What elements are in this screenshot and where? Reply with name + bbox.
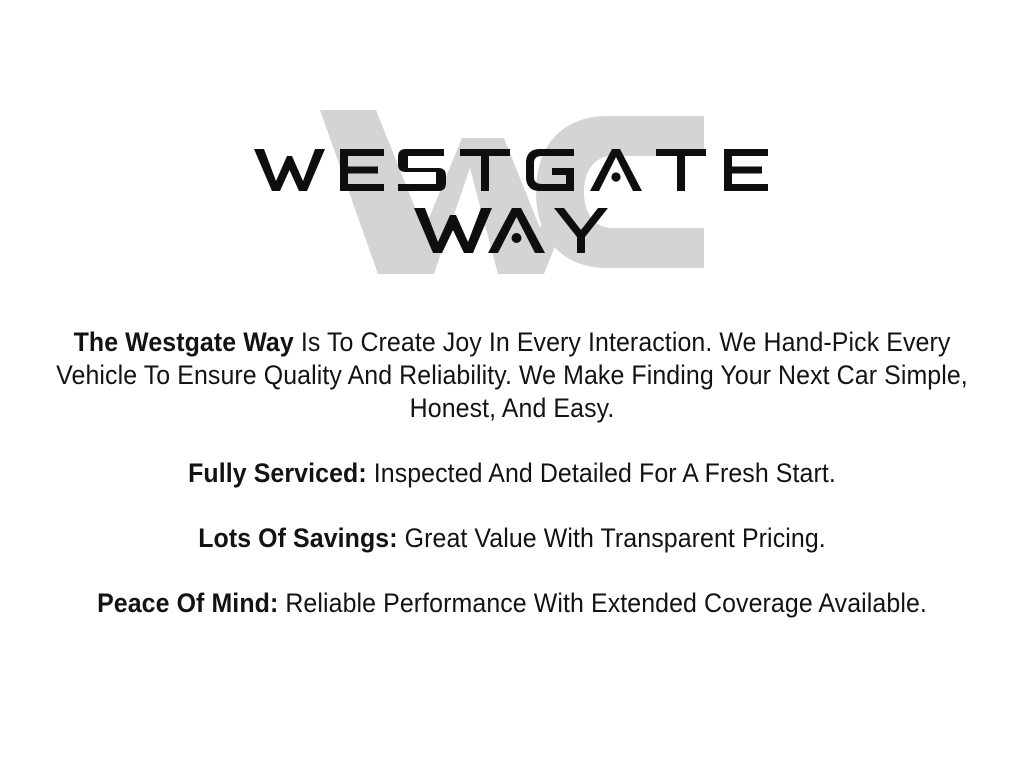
paragraph-lots-of-savings-lead: Lots Of Savings: — [198, 523, 397, 553]
logo-text-westgate — [252, 146, 772, 194]
paragraph-peace-of-mind-lead: Peace Of Mind: — [97, 588, 278, 618]
logo-text-way — [412, 204, 612, 256]
body-copy: The Westgate Way Is To Create Joy In Eve… — [0, 326, 1024, 620]
logo-wordmark — [0, 104, 1024, 284]
paragraph-lots-of-savings: Lots Of Savings: Great Value With Transp… — [31, 522, 994, 555]
slide-canvas: The Westgate Way Is To Create Joy In Eve… — [0, 0, 1024, 768]
paragraph-fully-serviced: Fully Serviced: Inspected And Detailed F… — [31, 457, 994, 490]
paragraph-peace-of-mind: Peace Of Mind: Reliable Performance With… — [31, 587, 994, 620]
paragraph-fully-serviced-rest: Inspected And Detailed For A Fresh Start… — [367, 458, 836, 488]
paragraph-peace-of-mind-rest: Reliable Performance With Extended Cover… — [278, 588, 927, 618]
paragraph-intro: The Westgate Way Is To Create Joy In Eve… — [31, 326, 994, 425]
paragraph-lots-of-savings-rest: Great Value With Transparent Pricing. — [398, 523, 826, 553]
brand-logo — [0, 104, 1024, 284]
paragraph-fully-serviced-lead: Fully Serviced: — [188, 458, 367, 488]
paragraph-intro-lead: The Westgate Way — [74, 327, 294, 357]
